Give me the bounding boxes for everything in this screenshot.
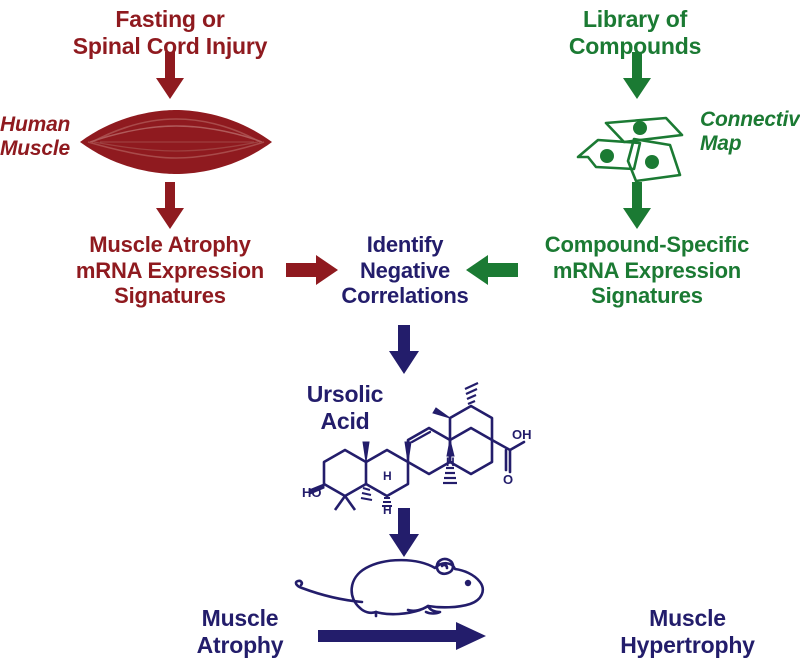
red-down-arrow-1 (152, 52, 188, 100)
muscle-atrophy-label: Muscle Atrophy (175, 605, 305, 658)
navy-down-arrow-2 (386, 508, 422, 558)
hydroxyl-left-label: HO (302, 485, 322, 500)
mouse-icon (290, 552, 510, 618)
skeletal-muscle-icon (78, 108, 274, 176)
human-muscle-label: Human Muscle (0, 113, 78, 162)
red-down-arrow-2 (152, 182, 188, 230)
muscle-hypertrophy-label: Muscle Hypertrophy (580, 605, 795, 658)
green-down-arrow-2 (619, 182, 655, 230)
left-signatures-label: Muscle Atrophy mRNA Expression Signature… (50, 232, 290, 309)
right-signatures-label: Compound-Specific mRNA Expression Signat… (507, 232, 787, 309)
ursolic-acid-structure: HO OH O H H H (300, 380, 530, 515)
navy-down-arrow-1 (386, 325, 422, 375)
carboxyl-oh-label: OH (512, 427, 532, 442)
green-down-arrow-1 (619, 52, 655, 100)
identify-negative-correlations-label: Identify Negative Correlations (330, 232, 480, 309)
carbonyl-o-label: O (503, 472, 513, 487)
connectivity-map-icon (570, 105, 700, 183)
stereo-h-label-2: H (383, 469, 392, 483)
stereo-h-label-3: H (446, 455, 455, 469)
connectivity-map-label: Connectivity Map (700, 108, 800, 157)
navy-right-arrow (318, 621, 488, 651)
diagram-canvas: Fasting or Spinal Cord Injury Human Musc… (0, 0, 800, 660)
